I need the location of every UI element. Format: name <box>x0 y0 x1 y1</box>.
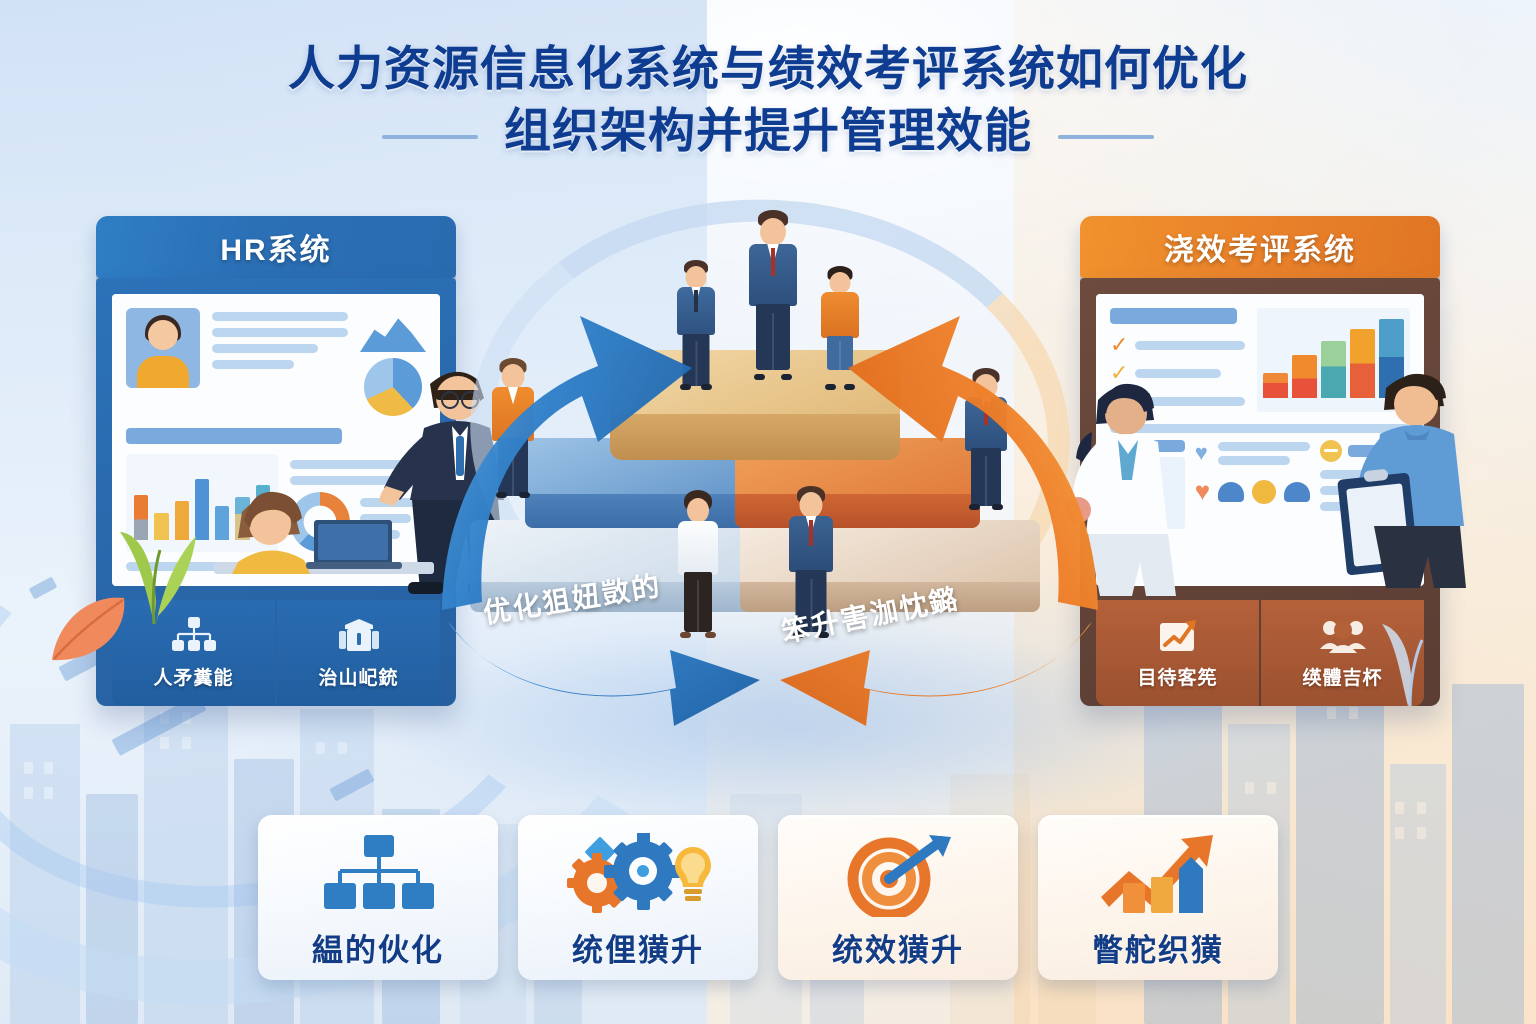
optimize-arrow-left <box>430 190 1110 750</box>
section-header-bar <box>126 428 342 444</box>
cloud-shape <box>1218 482 1244 502</box>
hr-chip-label: 人矛糞能 <box>153 663 233 690</box>
feature-card-label: 瞥舵织獚 <box>1092 925 1224 970</box>
avatar-head <box>148 320 178 350</box>
performance-system-panel-header: 浇效考评系统 <box>1080 216 1440 278</box>
feature-card-system-upgrade[interactable]: 统俚獚升 <box>518 815 758 980</box>
text-line <box>212 344 318 353</box>
title-rule-right <box>1058 135 1154 139</box>
cloud-shape <box>1284 482 1310 502</box>
feature-card-label: 緼的伙化 <box>312 925 444 970</box>
hr-system-panel-body: 人矛糞能 治山屺銃 <box>96 278 456 706</box>
title-line-2-row: 组织架构并提升管理效能 <box>0 100 1536 162</box>
hr-system-panel-header: HR系统 <box>96 216 456 278</box>
growth-arrow-bars-icon <box>1095 833 1221 917</box>
feature-card-label: 统效獚升 <box>832 925 964 970</box>
hr-chip-label: 治山屺銃 <box>318 663 398 690</box>
page-title: 人力资源信息化系统与绩效考评系统如何优化 组织架构并提升管理效能 <box>0 38 1536 162</box>
feature-card-performance-boost[interactable]: 统效獚升 <box>778 815 1018 980</box>
avatar-body <box>137 356 189 388</box>
growth-chart-icon <box>1156 617 1200 655</box>
infographic-canvas: 人力资源信息化系统与绩效考评系统如何优化 组织架构并提升管理效能 HR系统 <box>0 0 1536 1024</box>
plant-icon <box>96 506 216 626</box>
bar <box>1292 355 1317 398</box>
feature-card-label: 统俚獚升 <box>572 925 704 970</box>
text-line <box>212 328 348 337</box>
document-stack-icon <box>337 617 381 655</box>
text-line <box>212 312 348 321</box>
plant-icon <box>1356 600 1466 710</box>
target-dart-icon <box>837 833 959 917</box>
perf-chip-target[interactable]: 目待客筅 <box>1096 600 1259 706</box>
seated-worker-figure <box>214 450 434 600</box>
gears-bulb-icon <box>563 833 713 917</box>
hr-system-panel[interactable]: HR系统 <box>96 216 456 706</box>
text-line <box>212 360 294 369</box>
perf-chip-label: 目待客筅 <box>1137 663 1217 690</box>
employee-photo <box>126 308 200 388</box>
feature-card-management-growth[interactable]: 瞥舵织獚 <box>1038 815 1278 980</box>
feature-card-org-structure[interactable]: 緼的伙化 <box>258 815 498 980</box>
section-header-bar <box>1110 308 1237 324</box>
center-illustration: 优化狙妞敳的 笨升害泇忱鏴 <box>430 190 1110 750</box>
title-line-2: 组织架构并提升管理效能 <box>504 100 1032 162</box>
org-hierarchy-icon <box>318 833 438 917</box>
title-rule-left <box>382 135 478 139</box>
title-line-1: 人力资源信息化系统与绩效考评系统如何优化 <box>0 38 1536 100</box>
circle-shape <box>1252 480 1276 504</box>
text-line <box>1218 456 1290 465</box>
hr-chip-documents[interactable]: 治山屺銃 <box>277 600 440 706</box>
bar <box>1263 373 1288 398</box>
feature-card-row: 緼的伙化 <box>0 815 1536 980</box>
text-line <box>1218 442 1310 451</box>
clipboard-figure <box>1320 330 1490 600</box>
